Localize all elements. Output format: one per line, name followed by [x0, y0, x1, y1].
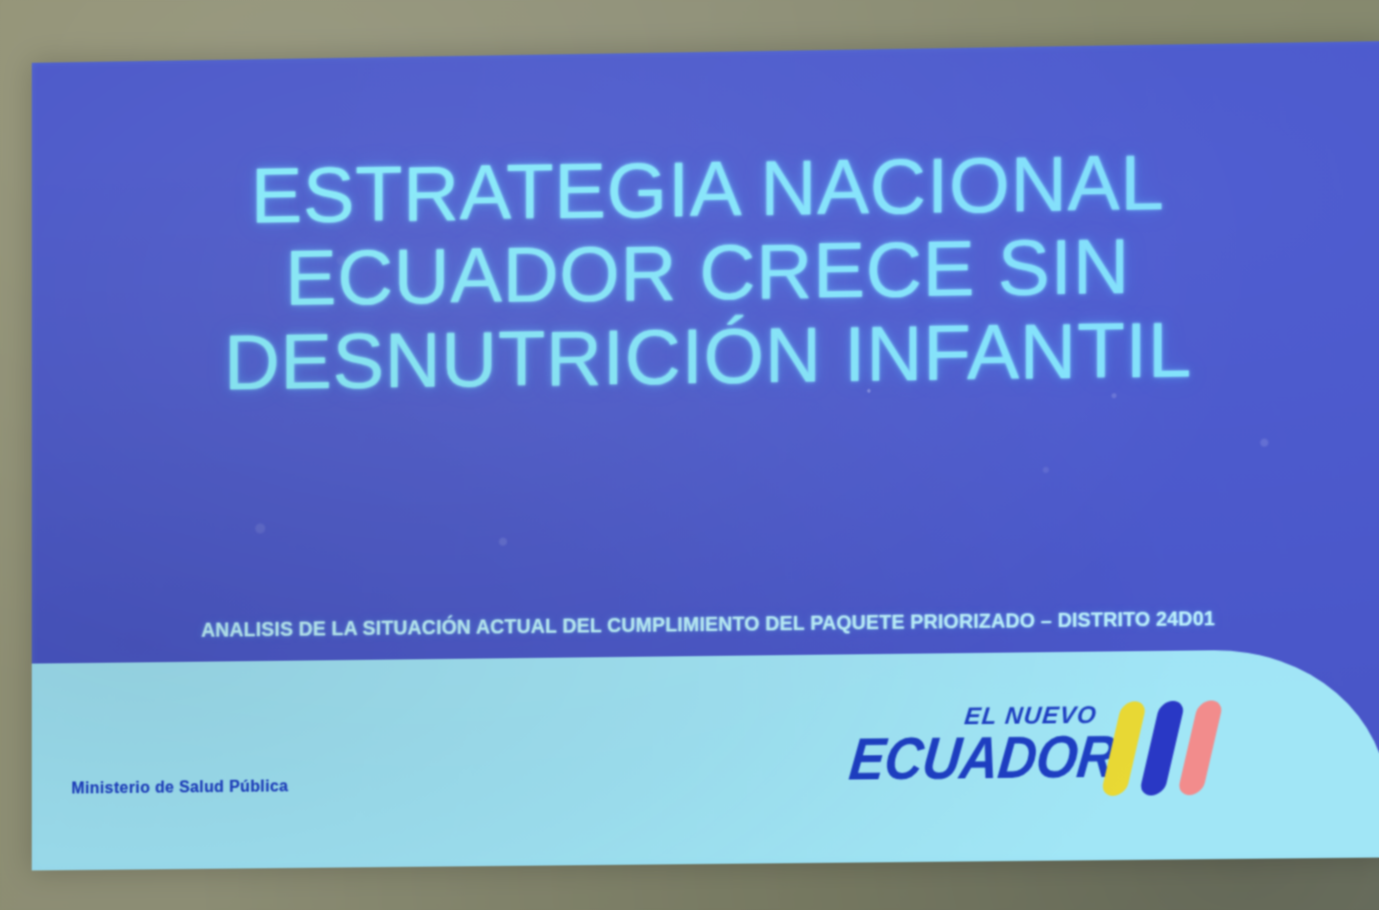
stripe-red-icon — [1177, 700, 1224, 795]
slide-title: ESTRATEGIA NACIONAL ECUADOR CRECE SIN DE… — [32, 138, 1379, 408]
presentation-slide-wrapper: ESTRATEGIA NACIONAL ECUADOR CRECE SIN DE… — [32, 41, 1379, 870]
logo-big-text: ECUADOR — [846, 723, 1119, 794]
subtitle-text: ANALISIS DE LA SITUACIÓN ACTUAL DEL CUMP… — [201, 608, 1215, 643]
slide-footer-band: Ministerio de Salud Pública EL NUEVO ECU… — [32, 648, 1379, 870]
title-line-3: DESNUTRICIÓN INFANTIL — [71, 306, 1347, 407]
ministry-label: Ministerio de Salud Pública — [71, 778, 288, 798]
logo-flag-stripes — [1109, 698, 1226, 796]
el-nuevo-ecuador-logo: EL NUEVO ECUADOR — [846, 686, 1226, 800]
presentation-slide: ESTRATEGIA NACIONAL ECUADOR CRECE SIN DE… — [32, 41, 1379, 870]
logo-wordmark: EL NUEVO ECUADOR — [846, 694, 1099, 801]
slide-subtitle: ANALISIS DE LA SITUACIÓN ACTUAL DEL CUMP… — [32, 606, 1379, 645]
title-line-1: ESTRATEGIA NACIONAL — [71, 138, 1347, 241]
projected-slide-photo: ESTRATEGIA NACIONAL ECUADOR CRECE SIN DE… — [0, 0, 1379, 910]
stripe-blue-icon — [1139, 701, 1186, 796]
